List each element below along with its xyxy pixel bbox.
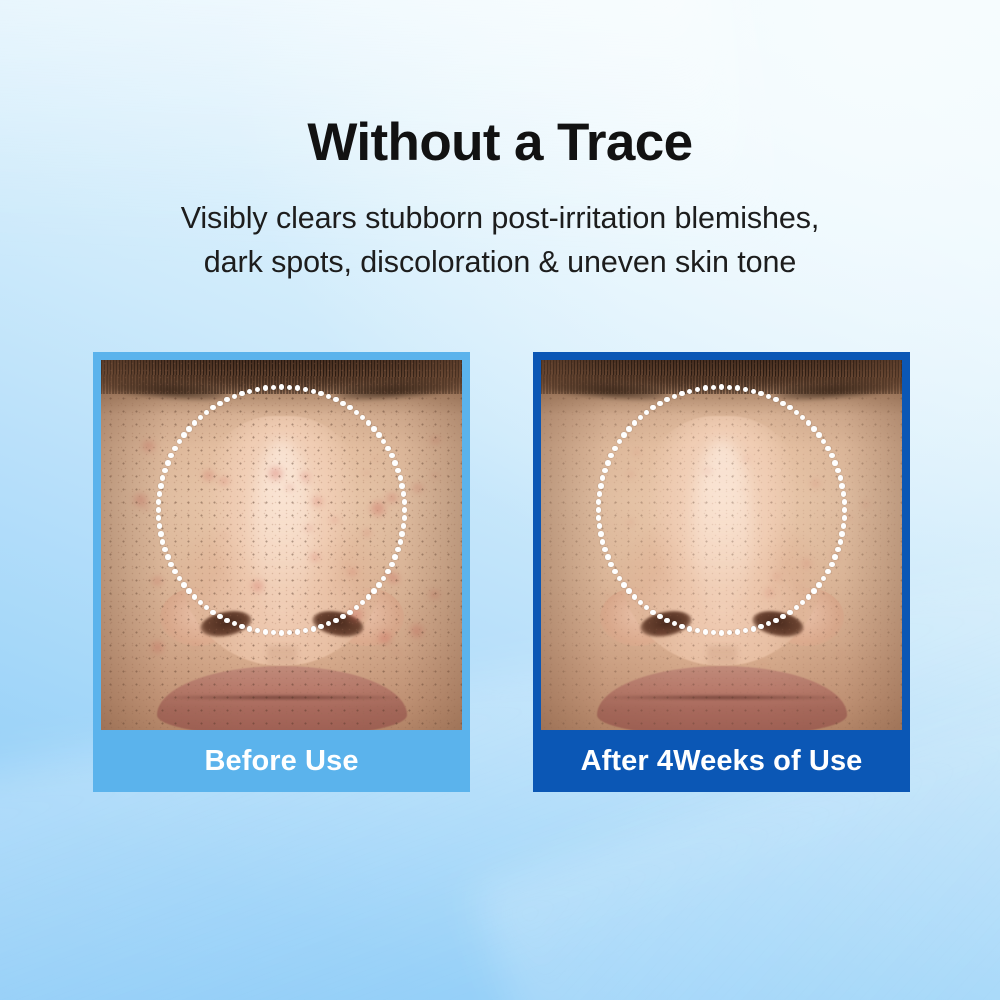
focus-circle-dot [347, 610, 352, 615]
focus-circle-dot [165, 554, 170, 559]
before-photo [101, 360, 462, 730]
focus-circle-dot [340, 614, 345, 619]
focus-circle-dot [318, 624, 323, 629]
focus-circle-dot [703, 629, 708, 634]
focus-circle-dot [366, 420, 371, 425]
focus-circle-dot [787, 610, 792, 615]
focus-circle-dot [168, 562, 173, 567]
focus-circle-dot [751, 626, 756, 631]
focus-circle-dot [354, 605, 359, 610]
focus-circle-dot [402, 499, 407, 504]
focus-circle-dot [271, 385, 276, 390]
focus-circle-dot [825, 569, 830, 574]
focus-circle-dot [381, 439, 386, 444]
focus-circle-dot [602, 547, 607, 552]
focus-circle-dot [839, 483, 844, 488]
focus-circle-dot [401, 523, 406, 528]
focus-circle-dot [360, 415, 365, 420]
focus-circle-dot [816, 432, 821, 437]
focus-circle-dot [192, 594, 197, 599]
focus-circle-dot [389, 453, 394, 458]
focus-circle-dot [398, 539, 403, 544]
focus-circle-dot [806, 420, 811, 425]
focus-circle-dot [210, 610, 215, 615]
focus-circle-dot [687, 389, 692, 394]
focus-circle-dot [333, 397, 338, 402]
focus-circle-dot [156, 507, 161, 512]
focus-circle-dot [695, 628, 700, 633]
focus-circle-dot [841, 491, 846, 496]
focus-circle-dot [181, 432, 186, 437]
focus-circle-dot [204, 605, 209, 610]
focus-circle-dot [210, 405, 215, 410]
focus-circle-dot [743, 387, 748, 392]
focus-circle-dot [719, 384, 724, 389]
focus-circle-dot [650, 405, 655, 410]
focus-circle-dot [596, 515, 601, 520]
focus-circle-dot [162, 468, 167, 473]
focus-circle-dot [287, 630, 292, 635]
focus-circle-dot [758, 391, 763, 396]
focus-circle-dot [295, 385, 300, 390]
focus-circle-dot [644, 410, 649, 415]
focus-circle-dot [389, 562, 394, 567]
focus-circle-dot [156, 499, 161, 504]
promo-graphic: Without a Trace Visibly clears stubborn … [0, 0, 1000, 1000]
focus-circle-dot [295, 629, 300, 634]
focus-circle-dot [800, 600, 805, 605]
focus-circle-dot [287, 385, 292, 390]
focus-circle-dot [172, 569, 177, 574]
focus-circle-dot [247, 626, 252, 631]
focus-circle-dot [157, 491, 162, 496]
focus-circle-dot [821, 439, 826, 444]
focus-circle-dot [157, 523, 162, 528]
focus-circle-dot [598, 483, 603, 488]
focus-circle-dot [239, 391, 244, 396]
after-caption: After 4Weeks of Use [533, 730, 910, 792]
focus-circle-dot [735, 629, 740, 634]
focus-circle-dot [279, 630, 284, 635]
focus-circle-dot [311, 389, 316, 394]
focus-circle-dot [617, 439, 622, 444]
focus-circle-dot [780, 614, 785, 619]
focus-circle-dot [758, 624, 763, 629]
focus-circle-dot [832, 554, 837, 559]
focus-circle-dot [766, 394, 771, 399]
focus-circle-dot [333, 618, 338, 623]
focus-circle-dot [605, 554, 610, 559]
focus-circle-dot [395, 468, 400, 473]
focus-circle-dot [638, 415, 643, 420]
focus-circle-dot [263, 629, 268, 634]
focus-circle-dot [679, 391, 684, 396]
focus-circle-dot [711, 630, 716, 635]
focus-circle-dot [621, 582, 626, 587]
focus-circle-dot [821, 576, 826, 581]
focus-circle-dot [366, 594, 371, 599]
focus-circle-dot [347, 405, 352, 410]
focus-circle-dot [794, 410, 799, 415]
focus-circle-dot [657, 401, 662, 406]
focus-circle-dot [596, 499, 601, 504]
focus-circle-dot [600, 539, 605, 544]
focus-circle-dot [392, 460, 397, 465]
focus-circle-dot [381, 576, 386, 581]
focus-circle-dot [255, 387, 260, 392]
focus-circle-dot [664, 397, 669, 402]
focus-circle-dot [780, 401, 785, 406]
focus-circle-dot [160, 539, 165, 544]
focus-circle-dot [160, 475, 165, 480]
focus-circle-dot [773, 618, 778, 623]
focus-circle-dot [303, 628, 308, 633]
focus-circle-dot [626, 588, 631, 593]
focus-circle-dot [162, 547, 167, 552]
before-caption: Before Use [93, 730, 470, 792]
focus-circle-dot [371, 426, 376, 431]
focus-circle-dot [743, 628, 748, 633]
focus-circle-dot [402, 515, 407, 520]
focus-circle-dot [816, 582, 821, 587]
focus-circle-dot [829, 453, 834, 458]
focus-circle-dot [787, 405, 792, 410]
focus-circle-dot [172, 446, 177, 451]
focus-circle-dot [839, 531, 844, 536]
focus-circle-dot [385, 569, 390, 574]
focus-circle-dot [392, 554, 397, 559]
focus-circle-dot [842, 507, 847, 512]
focus-circle-dot [181, 582, 186, 587]
focus-circle-dot [838, 475, 843, 480]
focus-circle-dot [360, 600, 365, 605]
focus-circle-dot [597, 491, 602, 496]
focus-circle-dot [326, 621, 331, 626]
focus-circle-dot [679, 624, 684, 629]
focus-dotted-circle-before [156, 384, 408, 636]
focus-circle-dot [402, 507, 407, 512]
focus-circle-dot [751, 389, 756, 394]
focus-circle-dot [832, 460, 837, 465]
focus-circle-dot [198, 415, 203, 420]
focus-circle-dot [735, 385, 740, 390]
focus-circle-dot [703, 385, 708, 390]
focus-circle-dot [711, 385, 716, 390]
focus-circle-dot [271, 630, 276, 635]
focus-dotted-circle-after [596, 384, 848, 636]
focus-circle-dot [638, 600, 643, 605]
focus-circle-dot [326, 394, 331, 399]
focus-circle-dot [842, 499, 847, 504]
focus-circle-dot [311, 626, 316, 631]
focus-circle-dot [766, 621, 771, 626]
before-panel: Before Use [93, 352, 470, 792]
focus-circle-dot [224, 397, 229, 402]
focus-circle-dot [255, 628, 260, 633]
focus-circle-dot [602, 468, 607, 473]
focus-circle-dot [401, 491, 406, 496]
focus-circle-dot [664, 618, 669, 623]
focus-circle-dot [247, 389, 252, 394]
focus-circle-dot [612, 569, 617, 574]
focus-circle-dot [318, 391, 323, 396]
page-title: Without a Trace [0, 115, 1000, 171]
focus-circle-dot [217, 401, 222, 406]
focus-circle-dot [835, 547, 840, 552]
focus-circle-dot [644, 605, 649, 610]
focus-circle-dot [727, 630, 732, 635]
focus-circle-dot [838, 539, 843, 544]
focus-circle-dot [158, 531, 163, 536]
page-subtitle-line-2: dark spots, discoloration & uneven skin … [0, 240, 1000, 284]
focus-circle-dot [399, 531, 404, 536]
focus-circle-dot [177, 439, 182, 444]
focus-circle-dot [632, 420, 637, 425]
focus-circle-dot [632, 594, 637, 599]
focus-circle-dot [672, 394, 677, 399]
focus-circle-dot [800, 415, 805, 420]
focus-circle-dot [168, 453, 173, 458]
focus-circle-dot [811, 426, 816, 431]
focus-circle-dot [829, 562, 834, 567]
focus-circle-dot [657, 614, 662, 619]
focus-circle-dot [806, 594, 811, 599]
focus-circle-dot [232, 394, 237, 399]
focus-circle-dot [687, 626, 692, 631]
focus-circle-dot [340, 401, 345, 406]
focus-circle-dot [842, 515, 847, 520]
focus-circle-dot [695, 387, 700, 392]
focus-circle-dot [596, 507, 601, 512]
focus-circle-dot [608, 453, 613, 458]
page-subtitle-line-1: Visibly clears stubborn post-irritation … [0, 196, 1000, 240]
focus-circle-dot [672, 621, 677, 626]
focus-circle-dot [617, 576, 622, 581]
focus-circle-dot [794, 605, 799, 610]
focus-circle-dot [385, 446, 390, 451]
focus-circle-dot [621, 432, 626, 437]
focus-circle-dot [217, 614, 222, 619]
focus-circle-dot [608, 562, 613, 567]
focus-circle-dot [650, 610, 655, 615]
after-photo [541, 360, 902, 730]
focus-circle-dot [224, 618, 229, 623]
focus-circle-dot [376, 432, 381, 437]
focus-circle-dot [398, 475, 403, 480]
focus-circle-dot [600, 475, 605, 480]
focus-circle-dot [354, 410, 359, 415]
focus-circle-dot [158, 483, 163, 488]
focus-circle-dot [399, 483, 404, 488]
focus-circle-dot [835, 468, 840, 473]
focus-circle-dot [165, 460, 170, 465]
focus-circle-dot [239, 624, 244, 629]
focus-circle-dot [598, 531, 603, 536]
focus-circle-dot [371, 588, 376, 593]
focus-circle-dot [192, 420, 197, 425]
focus-circle-dot [204, 410, 209, 415]
focus-circle-dot [811, 588, 816, 593]
focus-circle-dot [626, 426, 631, 431]
focus-circle-dot [395, 547, 400, 552]
focus-circle-dot [605, 460, 610, 465]
focus-circle-dot [263, 385, 268, 390]
focus-circle-dot [773, 397, 778, 402]
focus-circle-dot [376, 582, 381, 587]
focus-circle-dot [177, 576, 182, 581]
focus-circle-dot [156, 515, 161, 520]
focus-circle-dot [825, 446, 830, 451]
focus-circle-dot [597, 523, 602, 528]
focus-circle-dot [612, 446, 617, 451]
after-panel: After 4Weeks of Use [533, 352, 910, 792]
focus-circle-dot [232, 621, 237, 626]
page-subtitle: Visibly clears stubborn post-irritation … [0, 196, 1000, 284]
focus-circle-dot [303, 387, 308, 392]
focus-circle-dot [186, 426, 191, 431]
focus-circle-dot [279, 384, 284, 389]
focus-circle-dot [719, 630, 724, 635]
focus-circle-dot [198, 600, 203, 605]
focus-circle-dot [186, 588, 191, 593]
focus-circle-dot [727, 385, 732, 390]
focus-circle-dot [841, 523, 846, 528]
